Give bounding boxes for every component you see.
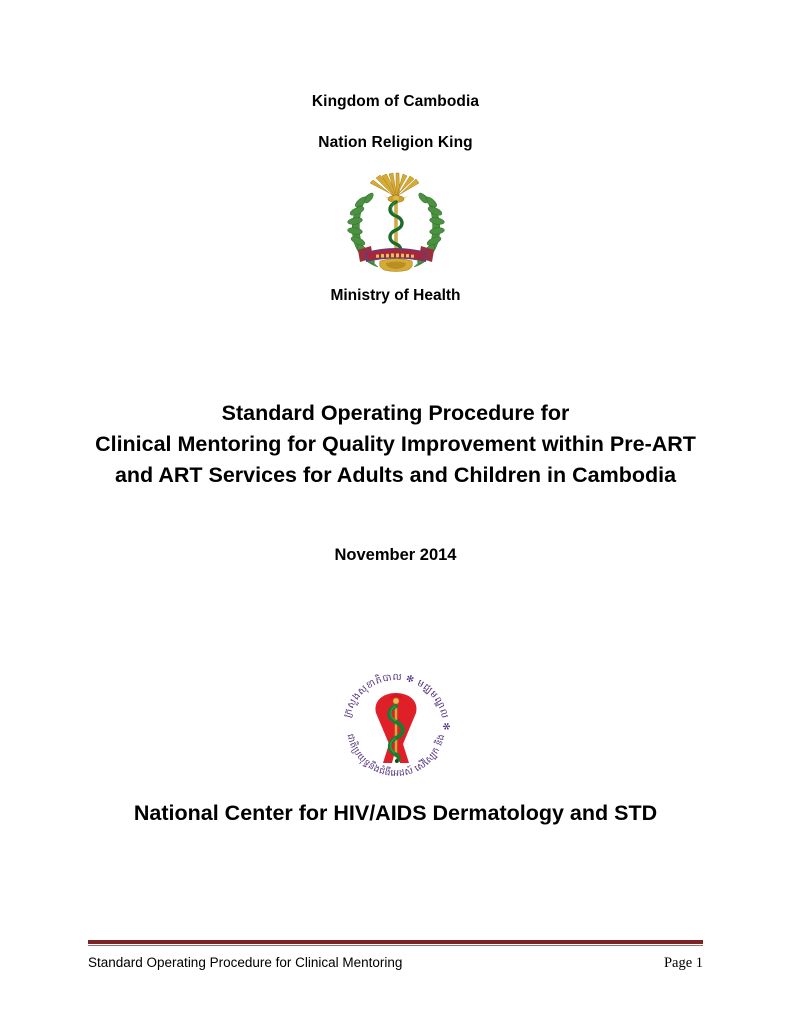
- ministry-of-health-line: Ministry of Health: [0, 287, 791, 305]
- ministry-of-health-emblem: [336, 172, 456, 276]
- nchads-logo: ក្រសួងសុខាភិបាល ✻ មជ្ឈមណ្ឌល ✻ ជាតិប្រយុទ…: [337, 668, 455, 786]
- page-footer: Standard Operating Procedure for Clinica…: [88, 940, 703, 972]
- footer-page-number: Page 1: [664, 955, 703, 972]
- banner-ribbon-icon: [358, 246, 434, 272]
- document-page: Kingdom of Cambodia Nation Religion King: [0, 0, 791, 1024]
- organization-name: National Center for HIV/AIDS Dermatology…: [40, 801, 751, 826]
- title-line-2: Clinical Mentoring for Quality Improveme…: [60, 429, 731, 460]
- rod-of-asclepius-icon: [390, 195, 402, 254]
- nchads-logo-graphic: ក្រសួងសុខាភិបាល ✻ មជ្ឈមណ្ឌល ✻ ជាតិប្រយុទ…: [337, 668, 455, 786]
- document-date: November 2014: [0, 546, 791, 565]
- ministry-emblem-graphic: [336, 172, 456, 276]
- nation-religion-king-line: Nation Religion King: [0, 134, 791, 152]
- footer-row: Standard Operating Procedure for Clinica…: [88, 955, 703, 972]
- title-line-3: and ART Services for Adults and Children…: [60, 460, 731, 491]
- footer-rule-thin: [88, 945, 703, 946]
- page-title: Standard Operating Procedure for Clinica…: [60, 398, 731, 491]
- title-line-1: Standard Operating Procedure for: [60, 398, 731, 429]
- footer-document-title: Standard Operating Procedure for Clinica…: [88, 955, 402, 970]
- kingdom-of-cambodia-line: Kingdom of Cambodia: [0, 93, 791, 111]
